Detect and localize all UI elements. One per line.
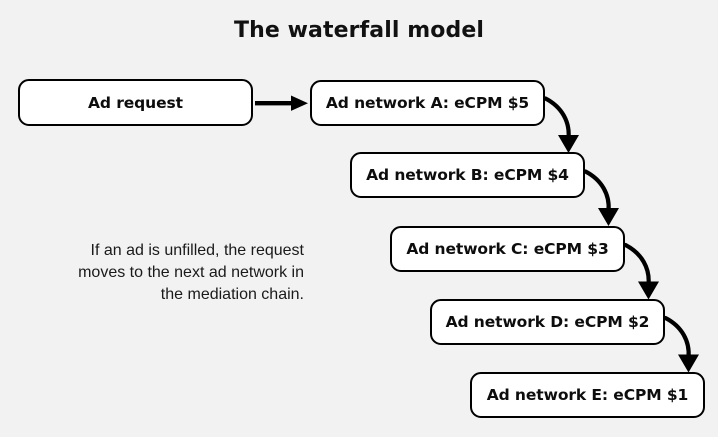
arrow-a-to-b [546, 99, 580, 154]
arrow-d-to-e [666, 318, 700, 373]
caption-line: If an ad is unfilled, the request [20, 240, 304, 262]
caption-line: moves to the next ad network in [20, 262, 304, 284]
arrow-c-to-d [626, 245, 660, 300]
page-title: The waterfall model [0, 18, 718, 43]
node-ad-network-e[interactable]: Ad network E: eCPM $1 [470, 372, 705, 418]
node-label: Ad network C: eCPM $3 [406, 240, 608, 258]
node-label: Ad network D: eCPM $2 [446, 313, 650, 331]
node-label: Ad network E: eCPM $1 [487, 386, 688, 404]
diagram-canvas: The waterfall model [0, 0, 718, 437]
node-ad-network-a[interactable]: Ad network A: eCPM $5 [310, 80, 545, 126]
node-ad-network-d[interactable]: Ad network D: eCPM $2 [430, 299, 665, 345]
node-label: Ad network A: eCPM $5 [326, 94, 529, 112]
node-ad-network-c[interactable]: Ad network C: eCPM $3 [390, 226, 625, 272]
node-ad-request[interactable]: Ad request [18, 79, 253, 126]
explanatory-caption: If an ad is unfilled, the request moves … [20, 240, 304, 306]
arrow-b-to-c [586, 172, 620, 227]
arrow-request-to-a [255, 96, 308, 111]
caption-line: the mediation chain. [20, 284, 304, 306]
node-label: Ad network B: eCPM $4 [366, 166, 569, 184]
node-ad-network-b[interactable]: Ad network B: eCPM $4 [350, 152, 585, 198]
node-label: Ad request [88, 94, 183, 112]
